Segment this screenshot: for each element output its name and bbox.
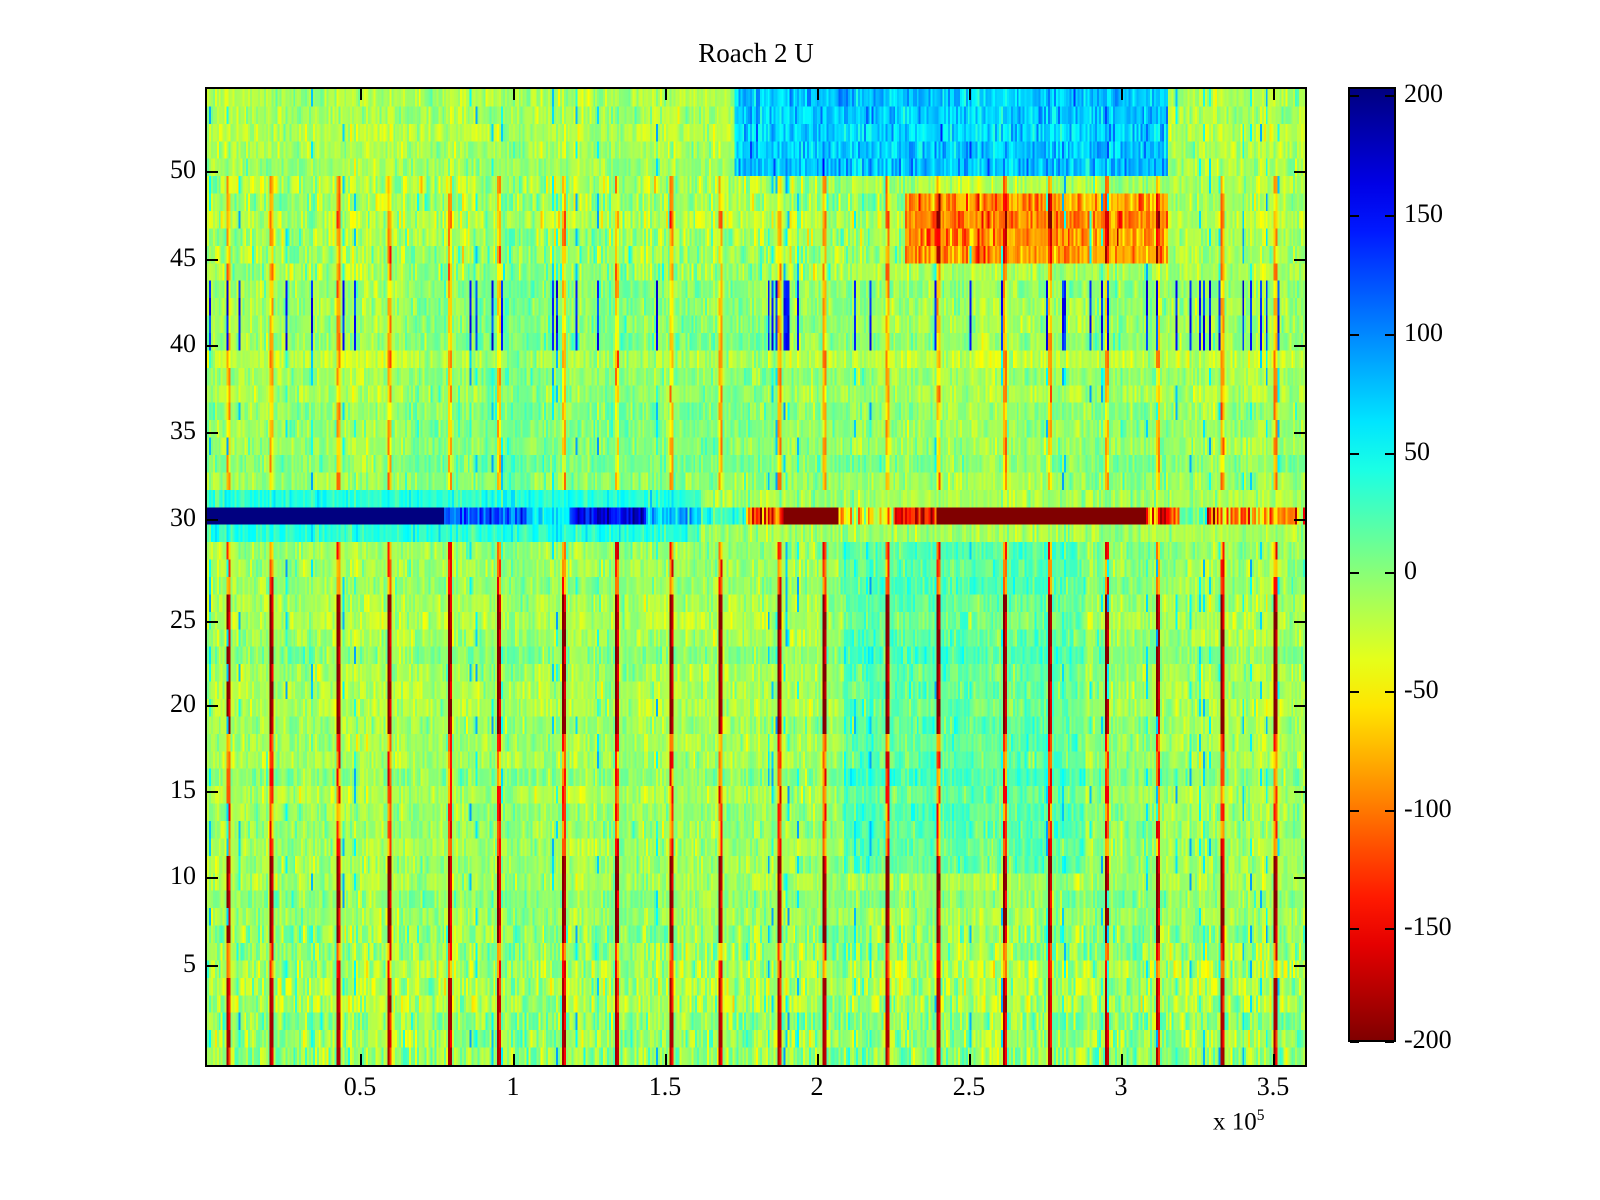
- y-axis-tick-label: 10: [170, 863, 196, 889]
- y-axis-tick-mark: [205, 791, 218, 793]
- y-axis-tick-mark: [205, 259, 218, 261]
- colorbar-tick-mark-right: [1385, 453, 1394, 455]
- y-axis-tick-label: 5: [183, 951, 196, 977]
- x-exponent-mantissa: x 10: [1213, 1108, 1257, 1135]
- page-title: Roach 2 U: [205, 40, 1307, 67]
- colorbar-tick-label: 100: [1404, 320, 1443, 346]
- x-axis-tick-mark: [1273, 1054, 1275, 1067]
- colorbar-gradient: [1350, 89, 1394, 1040]
- y-axis-tick-mark: [205, 171, 218, 173]
- colorbar-tick-mark-right: [1385, 334, 1394, 336]
- colorbar-tick-mark: [1350, 691, 1359, 693]
- y-axis-tick-mark-right: [1294, 965, 1307, 967]
- colorbar-tick-mark-right: [1385, 1041, 1394, 1043]
- x-axis-tick-label: 2: [811, 1074, 824, 1100]
- x-exponent-power: 5: [1257, 1107, 1265, 1124]
- y-axis-tick-mark-right: [1294, 791, 1307, 793]
- x-axis-tick-mark: [665, 1054, 667, 1067]
- y-axis-tick-label: 25: [170, 607, 196, 633]
- colorbar-tick-mark: [1350, 95, 1359, 97]
- colorbar-tick-label: -150: [1404, 914, 1452, 940]
- y-axis-tick-mark-right: [1294, 345, 1307, 347]
- x-axis-tick-mark-top: [665, 87, 667, 100]
- y-axis-tick-label: 40: [170, 331, 196, 357]
- colorbar-tick-mark-right: [1385, 810, 1394, 812]
- heatmap-image[interactable]: [207, 89, 1305, 1065]
- y-axis-tick-mark: [205, 705, 218, 707]
- x-axis-tick-mark-top: [817, 87, 819, 100]
- x-axis-tick-label: 0.5: [344, 1074, 377, 1100]
- x-axis-tick-label: 3: [1115, 1074, 1128, 1100]
- x-axis-tick-mark: [513, 1054, 515, 1067]
- y-axis-tick-label: 35: [170, 418, 196, 444]
- x-axis-tick-mark: [1121, 1054, 1123, 1067]
- x-axis-exponent-label: x 105: [1213, 1108, 1265, 1134]
- y-axis-tick-mark: [205, 519, 218, 521]
- colorbar-tick-mark-right: [1385, 215, 1394, 217]
- y-axis-tick-mark-right: [1294, 519, 1307, 521]
- x-axis-tick-mark-top: [969, 87, 971, 100]
- x-axis-tick-mark-top: [513, 87, 515, 100]
- colorbar-tick-label: -200: [1404, 1027, 1452, 1053]
- colorbar-tick-mark: [1350, 334, 1359, 336]
- colorbar-tick-label: 50: [1404, 439, 1430, 465]
- colorbar-tick-mark-right: [1385, 95, 1394, 97]
- colorbar-tick-label: 0: [1404, 558, 1417, 584]
- colorbar-tick-mark-right: [1385, 928, 1394, 930]
- x-axis-tick-label: 1.5: [649, 1074, 682, 1100]
- x-axis-tick-mark: [817, 1054, 819, 1067]
- x-axis-tick-mark-top: [360, 87, 362, 100]
- y-axis-tick-mark: [205, 345, 218, 347]
- colorbar-tick-label: 200: [1404, 81, 1443, 107]
- y-axis-tick-label: 50: [170, 157, 196, 183]
- figure-canvas: Roach 2 U 50454035302520151050.511.522.5…: [0, 0, 1600, 1200]
- colorbar-tick-label: 150: [1404, 201, 1443, 227]
- colorbar-tick-label: -50: [1404, 677, 1439, 703]
- colorbar-tick-mark-right: [1385, 691, 1394, 693]
- x-axis-tick-label: 1: [507, 1074, 520, 1100]
- y-axis-tick-label: 20: [170, 691, 196, 717]
- x-axis-tick-mark: [360, 1054, 362, 1067]
- colorbar-tick-label: -100: [1404, 796, 1452, 822]
- x-axis-tick-mark-top: [1273, 87, 1275, 100]
- y-axis-tick-mark-right: [1294, 621, 1307, 623]
- x-axis-tick-mark-top: [1121, 87, 1123, 100]
- colorbar-tick-mark: [1350, 1041, 1359, 1043]
- y-axis-tick-mark-right: [1294, 171, 1307, 173]
- y-axis-tick-mark-right: [1294, 877, 1307, 879]
- y-axis-tick-mark: [205, 877, 218, 879]
- colorbar-tick-mark: [1350, 215, 1359, 217]
- y-axis-tick-mark: [205, 621, 218, 623]
- y-axis-tick-label: 30: [170, 505, 196, 531]
- colorbar-tick-mark: [1350, 810, 1359, 812]
- colorbar-tick-mark-right: [1385, 572, 1394, 574]
- y-axis-tick-mark: [205, 432, 218, 434]
- y-axis-tick-mark-right: [1294, 432, 1307, 434]
- colorbar-tick-mark: [1350, 572, 1359, 574]
- y-axis-tick-label: 15: [170, 777, 196, 803]
- y-axis-tick-label: 45: [170, 245, 196, 271]
- x-axis-tick-label: 2.5: [953, 1074, 986, 1100]
- x-axis-tick-label: 3.5: [1257, 1074, 1290, 1100]
- y-axis-tick-mark: [205, 965, 218, 967]
- heatmap-axes[interactable]: [205, 87, 1307, 1067]
- y-axis-tick-mark-right: [1294, 259, 1307, 261]
- x-axis-tick-mark: [969, 1054, 971, 1067]
- colorbar-tick-mark: [1350, 928, 1359, 930]
- colorbar[interactable]: [1348, 87, 1396, 1042]
- colorbar-tick-mark: [1350, 453, 1359, 455]
- y-axis-tick-mark-right: [1294, 705, 1307, 707]
